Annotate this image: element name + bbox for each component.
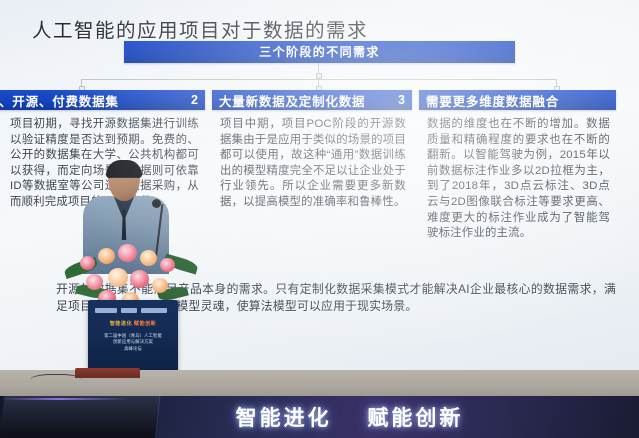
- floor-object: [75, 368, 140, 378]
- stage-column-2-header: 大量新数据及定制化数据 3: [212, 90, 412, 110]
- stage-column-2-body: 项目中期，项目POC阶段的开源数据集由于是应用于类似的场景的项目都可以使用，故这…: [212, 117, 412, 211]
- stage-column-3-body: 数据的维度也在不断的增加。数据质量和精确程度的要求也在不断的翻新。以智能驾驶为例…: [419, 117, 616, 242]
- podium-headline-left: 智能进化: [110, 321, 132, 327]
- page-title: 人工智能的应用项目对于数据的需求: [32, 14, 368, 43]
- stage-column-3-heading: 需要更多维度数据融合: [426, 91, 603, 110]
- stage-summary-banner-label: 三个阶段的不同需求: [124, 41, 515, 63]
- connector-node-root: [316, 73, 322, 79]
- projection-screen: 人工智能的应用项目对于数据的需求 三个阶段的不同需求 、开源、付费数据集 2 项…: [0, 0, 639, 393]
- microphone-icon: [152, 199, 161, 208]
- podium-logo: [95, 306, 171, 315]
- presentation-photo: 人工智能的应用项目对于数据的需求 三个阶段的不同需求 、开源、付费数据集 2 项…: [0, 0, 639, 438]
- connector-horizontal: [81, 79, 557, 80]
- led-banner: 智能进化 赋能创新: [0, 396, 639, 438]
- stage-column-2-number: 3: [392, 93, 405, 107]
- led-banner-text: 智能进化 赋能创新: [0, 402, 639, 432]
- podium-headline: 智能进化 赋能创新: [88, 320, 178, 327]
- led-banner-text-left: 智能进化: [236, 407, 332, 430]
- floor-cable: [30, 374, 82, 380]
- speaker-scene: 智能进化 赋能创新 第二届中国（青岛）人工智能 创新应用与解决方案 高峰论坛: [60, 150, 200, 393]
- led-banner-text-right: 赋能创新: [367, 407, 463, 430]
- podium-subtitle: 第二届中国（青岛）人工智能 创新应用与解决方案 高峰论坛: [92, 333, 174, 352]
- stage-summary-banner: 三个阶段的不同需求: [124, 41, 515, 63]
- stage-column-3-header: 需要更多维度数据融合: [419, 90, 616, 110]
- stage-column-3: 需要更多维度数据融合 数据的维度也在不断的增加。数据质量和精确程度的要求也在不断…: [419, 90, 616, 242]
- stage-column-2: 大量新数据及定制化数据 3 项目中期，项目POC阶段的开源数据集由于是应用于类似…: [212, 90, 412, 211]
- speaker-hair: [106, 160, 142, 178]
- stage-column-1-header: 、开源、付费数据集 2: [0, 90, 205, 110]
- stage-column-1-number: 2: [185, 93, 198, 107]
- stage-column-2-heading: 大量新数据及定制化数据: [219, 91, 392, 110]
- podium-subtitle-line-3: 高峰论坛: [92, 346, 174, 352]
- stage-column-1-heading: 、开源、付费数据集: [0, 91, 185, 110]
- podium-headline-right: 赋能创新: [134, 321, 156, 327]
- glasses-icon: [110, 177, 138, 183]
